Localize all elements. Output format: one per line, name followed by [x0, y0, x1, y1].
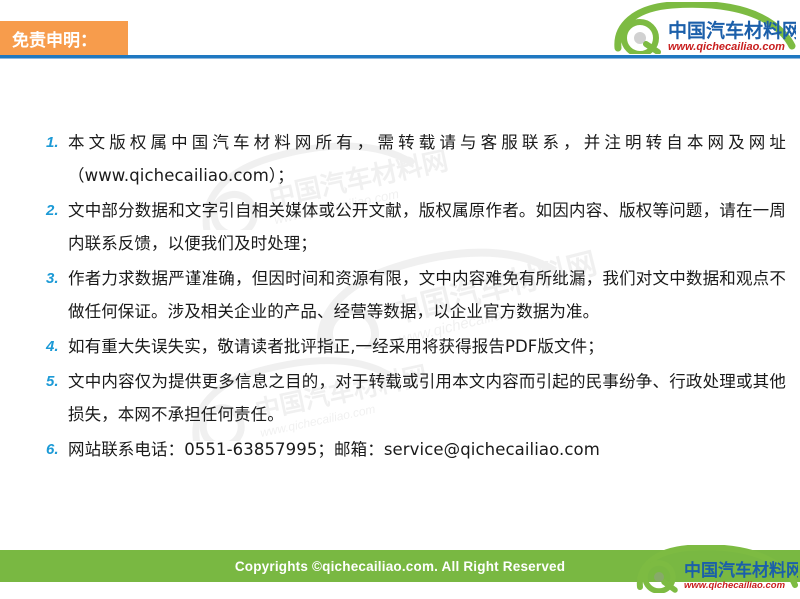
list-item-number: 6. [46, 433, 68, 466]
list-item: 5. 文中内容仅为提供更多信息之目的，对于转载或引用本文内容而引起的民事纷争、行… [46, 365, 786, 431]
list-item-number: 5. [46, 365, 68, 398]
header-divider-thin [0, 58, 800, 59]
list-item: 2. 文中部分数据和文字引自相关媒体或公开文献，版权属原作者。如因内容、版权等问… [46, 194, 786, 260]
list-item-number: 3. [46, 262, 68, 295]
brand-logo-bottom: 中国汽车材料网 www.qichecailiao.com [632, 545, 798, 593]
list-item-number: 2. [46, 194, 68, 227]
list-item-number: 4. [46, 330, 68, 363]
brand-url-top: www.qichecailiao.com [668, 41, 785, 53]
slide-header: 免责申明： 中国汽车材料网 www.qichecailiao.com [0, 0, 800, 66]
list-item: 3. 作者力求数据严谨准确，但因时间和资源有限，文中内容难免有所纰漏，我们对文中… [46, 262, 786, 328]
brand-logo-top-svg: 中国汽车材料网 www.qichecailiao.com [610, 2, 796, 54]
brand-name-cn-bottom: 中国汽车材料网 [684, 560, 798, 581]
slide-root: 免责申明： 中国汽车材料网 www.qichecailiao.com [0, 0, 800, 599]
list-item-text: 文中内容仅为提供更多信息之目的，对于转载或引用本文内容而引起的民事纷争、行政处理… [68, 365, 786, 431]
list-item: 1. 本文版权属中国汽车材料网所有，需转载请与客服联系，并注明转自本网及网址（w… [46, 126, 786, 192]
brand-name-cn: 中国汽车材料网 [668, 19, 796, 42]
list-item-text: 如有重大失误失实，敬请读者批评指正,一经采用将获得报告PDF版文件； [68, 330, 786, 363]
brand-logo-bottom-svg: 中国汽车材料网 www.qichecailiao.com [632, 545, 798, 593]
brand-url-bottom: www.qichecailiao.com [684, 580, 786, 591]
list-item: 6. 网站联系电话：0551-63857995；邮箱：service@qiche… [46, 433, 786, 466]
disclaimer-list: 1. 本文版权属中国汽车材料网所有，需转载请与客服联系，并注明转自本网及网址（w… [46, 126, 786, 468]
list-item: 4. 如有重大失误失实，敬请读者批评指正,一经采用将获得报告PDF版文件； [46, 330, 786, 363]
page-title: 免责申明： [12, 26, 97, 51]
brand-logo-top: 中国汽车材料网 www.qichecailiao.com [610, 2, 796, 54]
list-item-text: 作者力求数据严谨准确，但因时间和资源有限，文中内容难免有所纰漏，我们对文中数据和… [68, 262, 786, 328]
list-item-number: 1. [46, 126, 68, 159]
page-title-box: 免责申明： [0, 21, 128, 55]
list-item-text: 文中部分数据和文字引自相关媒体或公开文献，版权属原作者。如因内容、版权等问题，请… [68, 194, 786, 260]
list-item-text: 网站联系电话：0551-63857995；邮箱：service@qichecai… [68, 433, 786, 466]
list-item-text: 本文版权属中国汽车材料网所有，需转载请与客服联系，并注明转自本网及网址（www.… [68, 126, 786, 192]
footer-copyright: Copyrights ©qichecailiao.com. All Right … [235, 559, 565, 574]
